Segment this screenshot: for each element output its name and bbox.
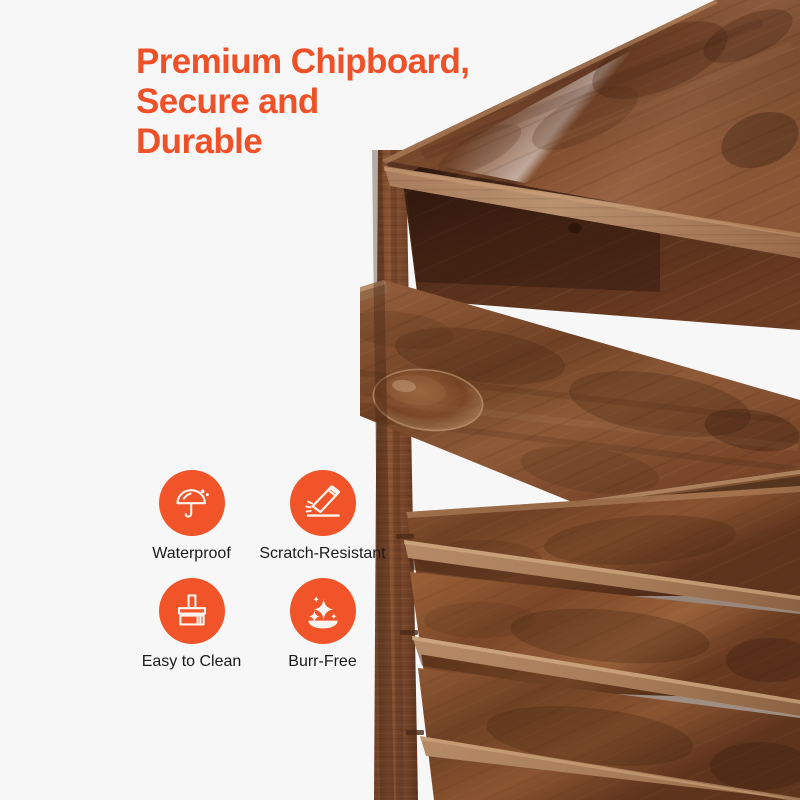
slanted-shelves <box>396 486 800 800</box>
feature-badge-grid: Waterproof <box>126 470 388 672</box>
blade-scratch-icon <box>303 483 343 523</box>
waterproof-badge[interactable] <box>159 470 225 536</box>
feature-row-bottom: Easy to Clean <box>126 578 388 672</box>
feature-label-burr-free: Burr-Free <box>288 652 356 672</box>
feature-scratch-resistant[interactable]: Scratch-Resistant <box>257 470 388 564</box>
feature-easy-to-clean[interactable]: Easy to Clean <box>126 578 257 672</box>
umbrella-icon <box>173 484 211 522</box>
feature-label-scratch-resistant: Scratch-Resistant <box>259 544 385 564</box>
feature-label-waterproof: Waterproof <box>152 544 231 564</box>
feature-waterproof[interactable]: Waterproof <box>126 470 257 564</box>
promo-image: Premium Chipboard, Secure and Durable <box>0 0 800 800</box>
feature-burr-free[interactable]: Burr-Free <box>257 578 388 672</box>
feature-row-top: Waterproof <box>126 470 388 564</box>
scrub-brush-icon <box>173 592 211 630</box>
easy-to-clean-badge[interactable] <box>159 578 225 644</box>
page-title: Premium Chipboard, Secure and Durable <box>136 42 476 162</box>
feature-label-easy-to-clean: Easy to Clean <box>142 652 242 672</box>
burr-free-badge[interactable] <box>290 578 356 644</box>
scratch-resistant-badge[interactable] <box>290 470 356 536</box>
sparkle-shine-icon <box>303 591 343 631</box>
